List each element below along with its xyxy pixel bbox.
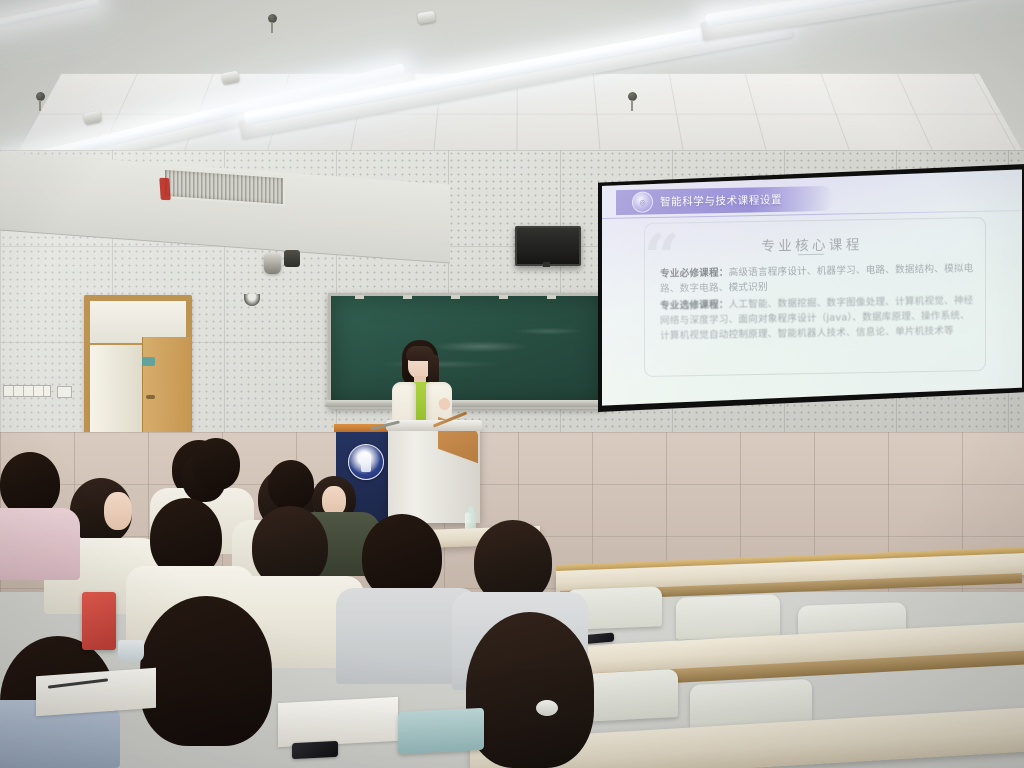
student-head [0,452,60,516]
student-face [104,492,132,530]
student-body [0,508,80,580]
door-handle[interactable] [146,395,155,399]
wall-power-outlet[interactable] [3,385,51,397]
bench-seatback [676,594,780,640]
slide-banner-title: 智能科学与技术课程设置 [660,192,782,209]
projected-slide: “ ◎ 智能科学与技术课程设置 专业核心课程 专业必修课程：高级语言程序设计、机… [602,168,1022,408]
required-courses-label: 专业必修课程： [660,268,729,280]
monitor-mount [543,262,550,267]
chalk-tray [326,400,604,407]
sprinkler-icon [36,92,45,101]
tote-bag[interactable] [82,592,116,650]
sprinkler-icon [628,92,637,101]
elective-courses-label: 专业选修课程： [660,300,729,312]
university-crest-icon: ◎ [632,191,653,212]
student-head [192,438,240,490]
ceiling-spotlight [417,11,436,25]
notebook[interactable] [36,668,156,716]
ceiling-light-strip [0,0,100,30]
red-wall-marker [159,178,171,200]
slide-title-banner: ◎ 智能科学与技术课程设置 [616,186,834,215]
student-head [140,596,272,746]
pencil-case[interactable] [398,708,484,755]
chalk-residue [331,296,603,406]
university-emblem [348,444,384,480]
door-sign [142,357,155,366]
paper-cup[interactable] [118,640,144,662]
slide-body-text: 专业必修课程：高级语言程序设计、机器学习、电路、数据结构、模拟电路、数字电路、模… [660,261,978,344]
blackboard [328,293,606,409]
lecture-hall-photo: “ ◎ 智能科学与技术课程设置 专业核心课程 专业必修课程：高级语言程序设计、机… [0,0,1024,768]
sprinkler-icon [268,14,277,23]
projection-screen: “ ◎ 智能科学与技术课程设置 专业核心课程 专业必修课程：高级语言程序设计、机… [598,164,1024,412]
wall-mounted-monitor [515,226,581,266]
smartphone[interactable] [292,741,338,759]
wall-switch[interactable] [57,386,72,398]
wall-speaker [264,254,281,274]
wall-speaker [284,250,300,267]
student-head [466,612,594,768]
student-head [268,460,314,510]
hair-tie [536,700,558,716]
notebook[interactable] [278,697,398,747]
